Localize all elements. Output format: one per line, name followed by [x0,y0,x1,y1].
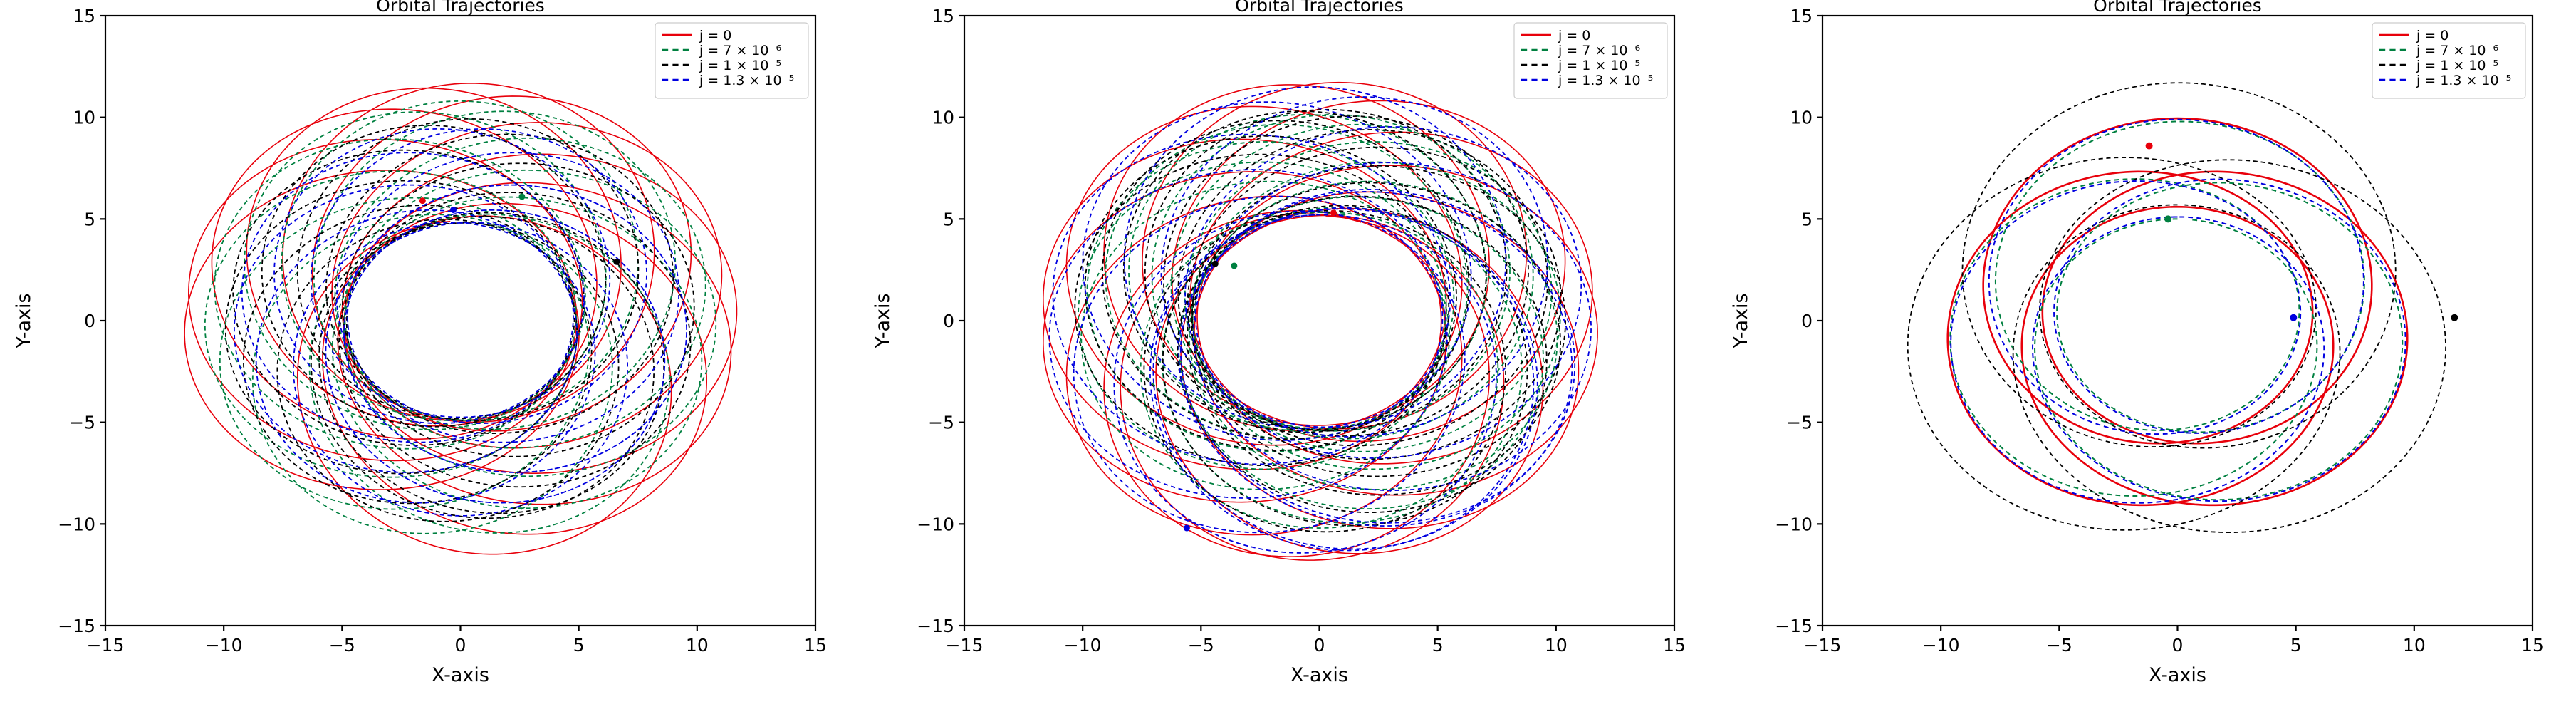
y-tick-label: 10 [932,108,954,128]
y-tick-label: −10 [917,514,954,534]
legend-label-series-4: j = 1.3 × 10⁻⁵ [2416,73,2511,88]
orbit-end-marker-series-2 [2165,215,2172,222]
x-axis-label: X-axis [2149,664,2206,686]
y-tick-label: −5 [69,413,95,433]
panel-title: Orbital Trajectories [2094,0,2263,16]
orbital-trajectories-figure: Orbital Trajectories−15−10−5051015−15−10… [0,0,2576,714]
orbit-end-marker-series-1 [1330,209,1337,216]
y-tick-label: 10 [1790,108,1813,128]
y-tick-label: −15 [58,616,95,636]
axes-frame [105,16,815,626]
panel-title: Orbital Trajectories [1235,0,1404,16]
axes-area: Orbital Trajectories−15−10−5051015−15−10… [0,0,859,714]
orbit-end-marker-series-3 [613,259,620,265]
legend-label-series-2: j = 7 × 10⁻⁶ [1558,43,1640,58]
x-tick-label: 5 [573,635,585,656]
x-tick-label: −15 [945,635,983,656]
panel-title: Orbital Trajectories [376,0,545,16]
y-axis-label: Y-axis [872,293,894,348]
x-tick-label: 0 [455,635,466,656]
x-tick-label: −5 [329,635,355,656]
plot-panel-3: Orbital Trajectories−15−10−5051015−15−10… [1717,0,2576,714]
orbit-end-marker-series-1 [2146,143,2153,150]
x-tick-label: 0 [2172,635,2184,656]
y-tick-label: −5 [1786,413,1813,433]
x-tick-label: −15 [1804,635,1842,656]
x-axis-label: X-axis [1290,664,1348,686]
y-tick-label: 5 [1801,209,1813,229]
orbit-end-marker-series-2 [1231,262,1237,269]
x-tick-label: −15 [87,635,125,656]
legend-label-series-2: j = 7 × 10⁻⁶ [2416,43,2498,58]
y-tick-label: 0 [1801,311,1813,331]
x-tick-label: −10 [205,635,243,656]
y-tick-label: 0 [84,311,95,331]
orbit-curve-series-1 [184,83,736,554]
legend: j = 0j = 7 × 10⁻⁶j = 1 × 10⁻⁵j = 1.3 × 1… [1514,23,1667,98]
data-layer [1908,83,2458,532]
legend: j = 0j = 7 × 10⁻⁶j = 1 × 10⁻⁵j = 1.3 × 1… [2372,23,2525,98]
orbit-end-marker-series-4 [450,207,457,213]
x-tick-label: −10 [1063,635,1101,656]
x-axis-label: X-axis [432,664,489,686]
data-layer [184,83,736,554]
x-tick-label: 5 [2290,635,2302,656]
legend-label-series-2: j = 7 × 10⁻⁶ [699,43,781,58]
legend-label-series-1: j = 0 [699,28,731,43]
x-tick-label: 0 [1313,635,1325,656]
y-tick-label: 15 [932,6,954,26]
y-axis-label: Y-axis [13,293,35,348]
y-tick-label: 15 [73,6,95,26]
legend-label-series-3: j = 1 × 10⁻⁵ [699,58,781,73]
orbit-curve-series-1 [1948,118,2407,505]
y-tick-label: −10 [1775,514,1813,534]
x-tick-label: 5 [1432,635,1443,656]
legend-label-series-4: j = 1.3 × 10⁻⁵ [1558,73,1653,88]
x-tick-label: −5 [2046,635,2072,656]
x-tick-label: 15 [804,635,827,656]
y-tick-label: 0 [943,311,954,331]
y-tick-label: −15 [1775,616,1813,636]
y-tick-label: 5 [943,209,954,229]
y-tick-label: −5 [928,413,954,433]
orbit-end-marker-series-3 [2451,314,2458,321]
axes-frame [1823,16,2533,626]
x-tick-label: 10 [2403,635,2426,656]
axes-area: Orbital Trajectories−15−10−5051015−15−10… [859,0,1718,714]
x-tick-label: 15 [2521,635,2544,656]
plot-panel-2: Orbital Trajectories−15−10−5051015−15−10… [859,0,1718,714]
y-tick-label: −10 [58,514,95,534]
orbit-end-marker-series-2 [518,193,525,200]
x-tick-label: −10 [1922,635,1960,656]
axes-area: Orbital Trajectories−15−10−5051015−15−10… [1717,0,2576,714]
plot-panel-1: Orbital Trajectories−15−10−5051015−15−10… [0,0,859,714]
y-tick-label: 15 [1790,6,1813,26]
legend-label-series-1: j = 0 [2416,28,2449,43]
y-axis-label: Y-axis [1730,293,1752,348]
orbit-end-marker-series-1 [419,197,426,204]
x-tick-label: 15 [1663,635,1686,656]
legend: j = 0j = 7 × 10⁻⁶j = 1 × 10⁻⁵j = 1.3 × 1… [655,23,808,98]
legend-label-series-3: j = 1 × 10⁻⁵ [1558,58,1640,73]
y-tick-label: 5 [84,209,95,229]
legend-label-series-1: j = 0 [1558,28,1590,43]
orbit-end-marker-series-4 [2290,314,2298,321]
x-tick-label: −5 [1188,635,1214,656]
y-tick-label: −15 [917,616,954,636]
y-tick-label: 10 [73,108,95,128]
x-tick-label: 10 [1545,635,1568,656]
legend-label-series-4: j = 1.3 × 10⁻⁵ [699,73,794,88]
orbit-curve-series-1 [1043,83,1597,560]
orbit-end-marker-series-3 [1211,261,1218,267]
data-layer [1043,83,1597,560]
x-tick-label: 10 [686,635,709,656]
orbit-end-marker-series-4 [1184,525,1190,532]
orbit-curve-series-3 [1908,83,2446,532]
legend-label-series-3: j = 1 × 10⁻⁵ [2416,58,2498,73]
